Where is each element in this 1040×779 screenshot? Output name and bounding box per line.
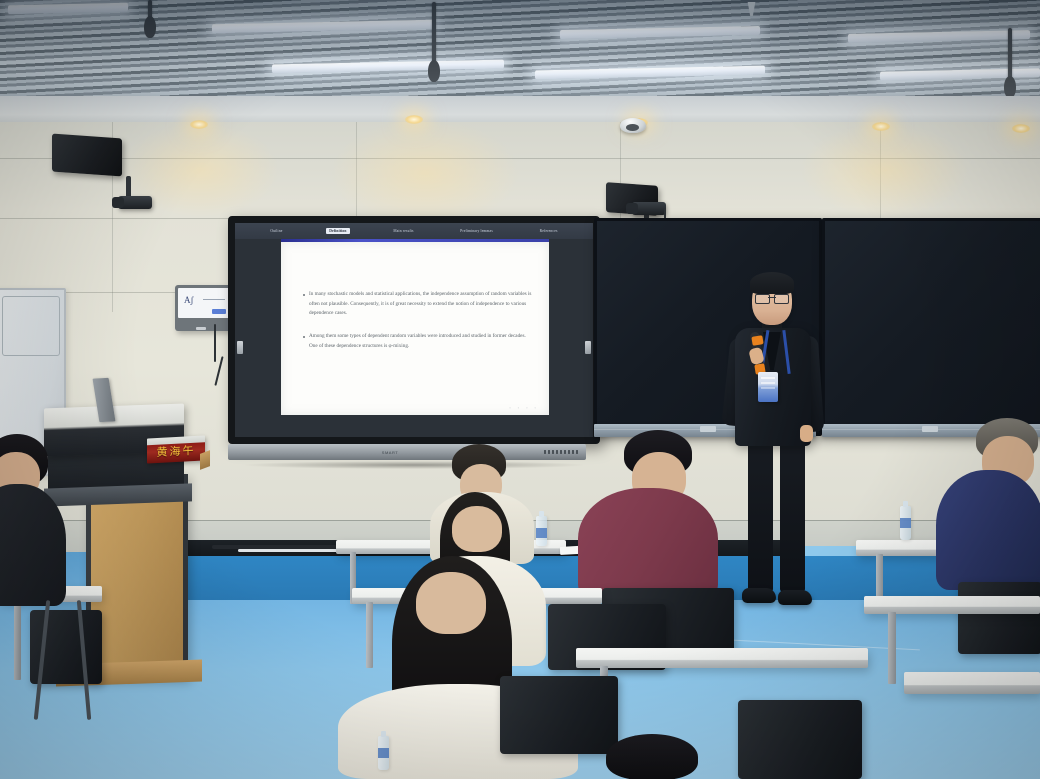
slide-bullet-text: In many stochastic models and statistica… — [309, 290, 533, 319]
interactive-smartboard[interactable]: Outline Definition Main results Prelimin… — [228, 216, 600, 444]
control-panel-cable — [214, 324, 216, 362]
board-clip — [700, 426, 716, 432]
chair-back[interactable] — [500, 676, 618, 754]
slide-bullet-item: Among them some types of dependent rando… — [303, 332, 533, 351]
slide-bullet-text: Among them some types of dependent rando… — [309, 332, 533, 351]
bullet-dot-icon — [303, 294, 305, 296]
conference-badge — [758, 372, 778, 402]
floor-cable — [238, 549, 348, 552]
slide-bullet-item: In many stochastic models and statistica… — [303, 290, 533, 319]
presenter-shoe-right — [778, 590, 812, 605]
desk-leg — [888, 612, 896, 684]
hanging-microphone — [432, 2, 436, 66]
smartboard-bezel-bar: SMART — [228, 444, 586, 460]
presenter-hand-right — [800, 425, 813, 442]
water-bottle — [900, 506, 911, 540]
control-panel-ink-label: Aʃ — [184, 295, 194, 305]
ceiling-light-tube — [272, 60, 504, 74]
desk-leg — [14, 600, 21, 680]
projector-mount-arm — [126, 176, 131, 198]
ceiling-downlight — [190, 120, 208, 129]
ceiling-light-tube — [535, 66, 765, 80]
student-desk — [576, 648, 868, 668]
sprinkler-head — [746, 2, 757, 16]
board-clip — [922, 426, 938, 432]
smartboard-right-button[interactable] — [585, 341, 591, 354]
control-panel-divider — [203, 299, 225, 300]
presenter-leg-left — [748, 440, 773, 592]
presenter-leg-right — [780, 440, 805, 592]
smartboard-shadow — [245, 461, 583, 469]
student-desk — [904, 672, 1040, 694]
slide-tab-definition[interactable]: Definition — [326, 228, 349, 234]
presenter-hair — [750, 272, 794, 294]
smartboard-screen[interactable]: Outline Definition Main results Prelimin… — [235, 223, 593, 437]
smartboard-left-button[interactable] — [237, 341, 243, 354]
water-bottle — [536, 516, 547, 546]
ceiling-light-tube — [560, 26, 760, 39]
microphone-band — [751, 335, 763, 346]
chair-back[interactable] — [738, 700, 862, 779]
water-bottle — [378, 736, 389, 770]
bullet-dot-icon — [303, 336, 305, 338]
eyeglasses-icon — [755, 294, 789, 302]
control-panel-stand — [196, 327, 206, 330]
wall-speaker — [52, 134, 122, 177]
slide-tab-outline[interactable]: Outline — [267, 228, 285, 234]
chair-back[interactable] — [958, 582, 1040, 654]
slide-navigation-bar: Outline Definition Main results Prelimin… — [235, 223, 593, 239]
presentation-slide: In many stochastic models and statistica… — [281, 242, 549, 415]
slide-tab-main-results[interactable]: Main results — [390, 228, 416, 234]
ceiling-downlight — [405, 115, 423, 124]
slide-bullet-list: In many stochastic models and statistica… — [303, 290, 533, 364]
control-panel-button[interactable] — [212, 309, 226, 314]
dome-camera — [620, 118, 646, 133]
ceiling-light-tube — [212, 20, 434, 34]
ceiling-light-tube — [880, 68, 1040, 80]
ceiling-light-tube — [848, 30, 1030, 43]
projector-unit — [632, 202, 666, 215]
slide-tab-references[interactable]: References — [537, 228, 561, 234]
ceiling-downlight — [1012, 124, 1030, 133]
smartboard-control-buttons[interactable] — [544, 450, 578, 454]
slide-tab-preliminary-lemmas[interactable]: Preliminary lemmas — [457, 228, 496, 234]
presenter-shoe-left — [742, 588, 776, 603]
projector-unit — [118, 196, 152, 209]
desk-leg — [366, 602, 373, 668]
lecture-hall-scene: Aʃ Outline Definition Main results Preli… — [0, 0, 1040, 779]
ceiling-slats — [0, 0, 1040, 108]
hanging-microphone — [1008, 28, 1012, 82]
ceiling-light-tube — [8, 3, 128, 15]
ceiling-downlight — [872, 122, 890, 131]
slide-page-indicator: ▫ ▫ ▫ ▫ — [509, 405, 539, 410]
hanging-microphone — [148, 0, 152, 22]
speaker-nameplate: 黄海午 — [147, 435, 205, 463]
wall-control-panel[interactable]: Aʃ — [175, 285, 233, 331]
control-panel-screen[interactable]: Aʃ — [178, 288, 230, 318]
nameplate-text: 黄海午 — [157, 442, 196, 460]
blackboard-panel-right — [822, 218, 1040, 436]
smartboard-brand-label: SMART — [382, 450, 398, 455]
